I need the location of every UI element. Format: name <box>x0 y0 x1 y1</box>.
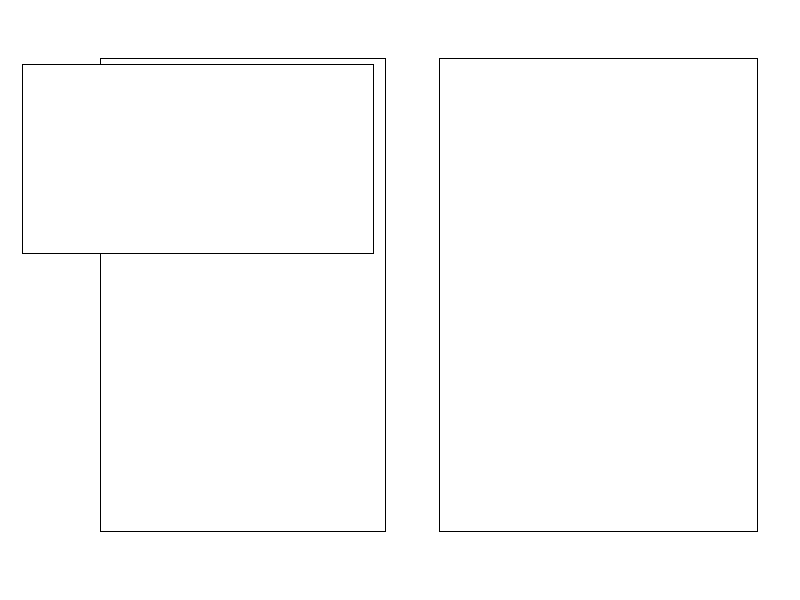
legend-box <box>22 64 374 254</box>
histogram-axes-frame <box>439 58 758 532</box>
figure-canvas <box>0 0 800 600</box>
